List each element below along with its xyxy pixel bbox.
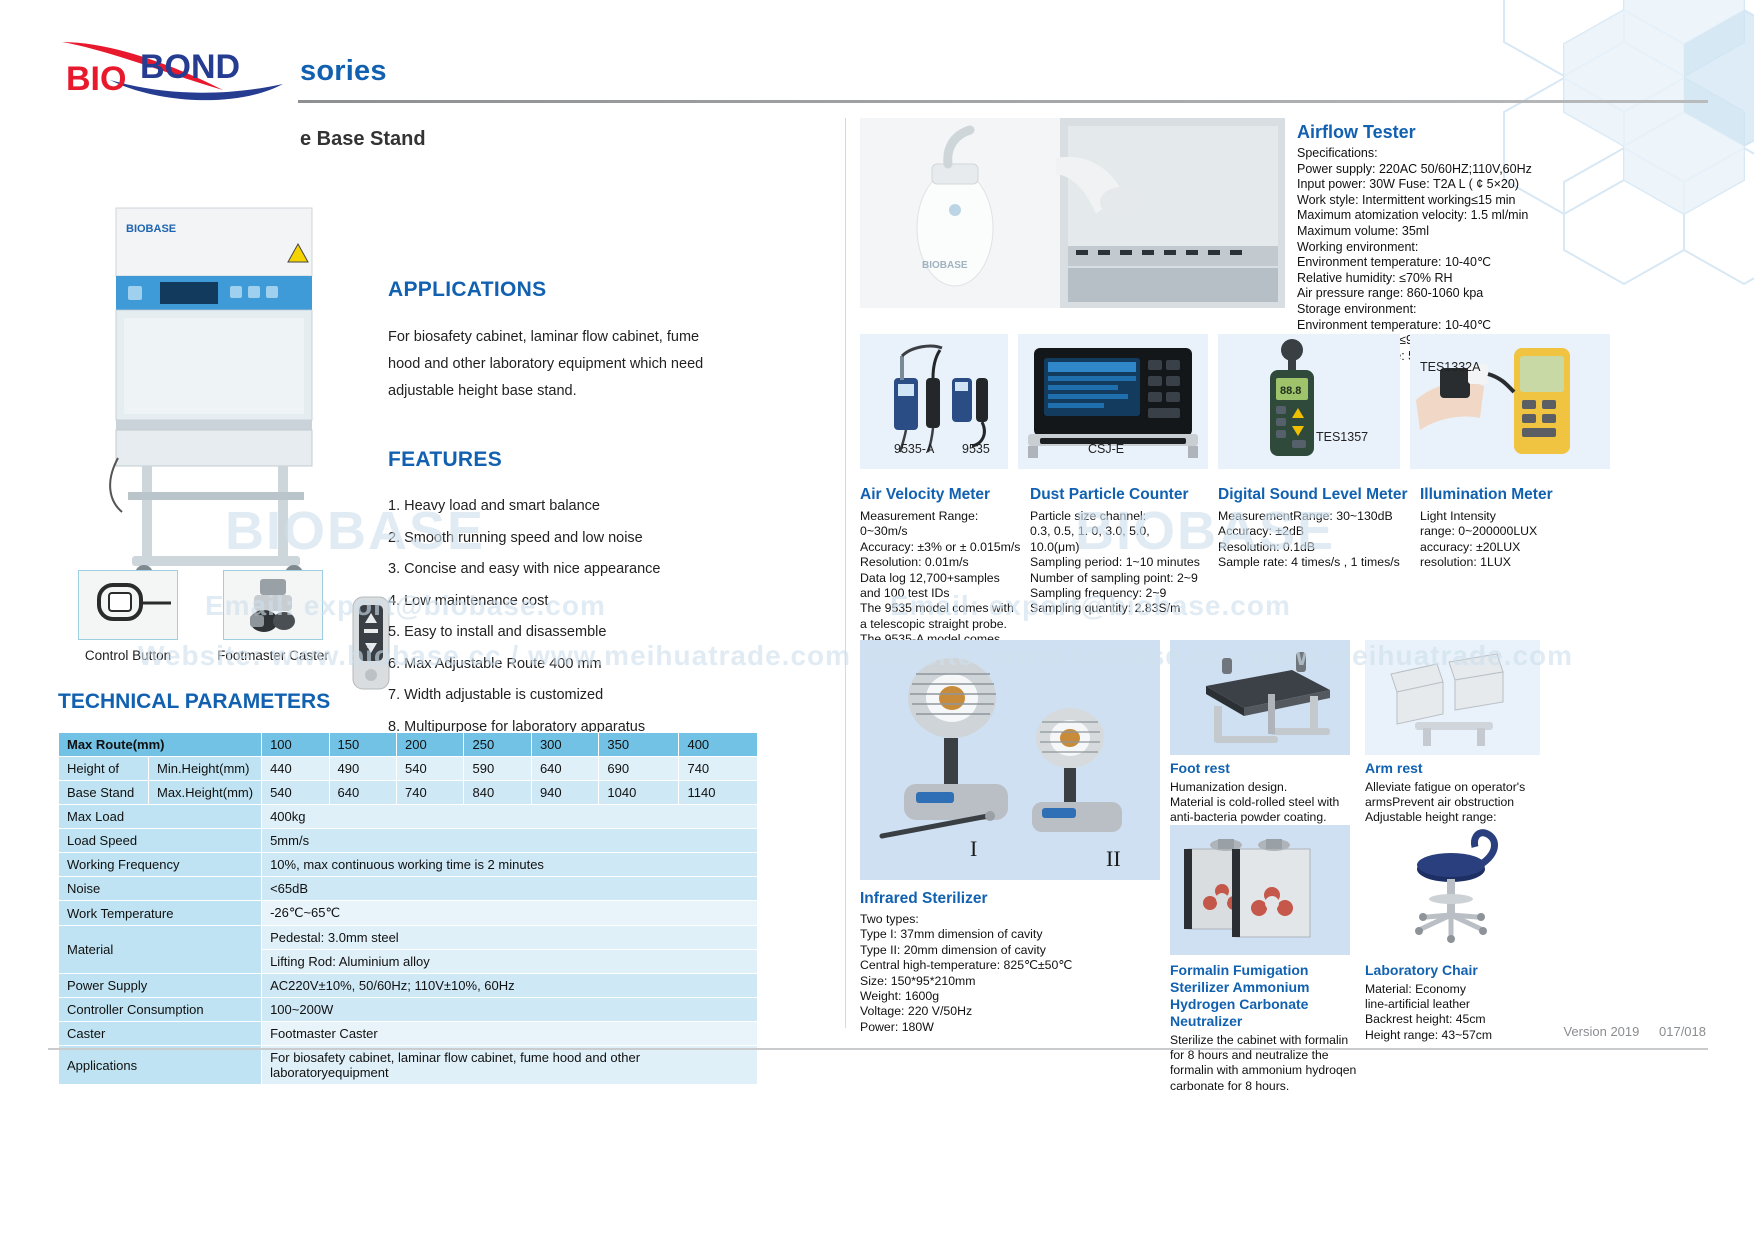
air-velocity-caption-b: 9535 (962, 442, 990, 456)
spec-line: Work style: Intermittent working≤15 min (1297, 193, 1627, 209)
spec-line: Measurement Range: 0~30m/s (860, 509, 1022, 540)
max-route-value: 150 (329, 733, 396, 757)
table-row: Load Speed 5mm/s (59, 829, 758, 853)
infrared-sterilizer-photo: I II (860, 640, 1160, 880)
spec-line: Working environment: (1297, 240, 1627, 256)
spec-line: Specifications: (1297, 146, 1627, 162)
spec-line: Number of sampling point: 2~9 (1030, 571, 1208, 586)
illumination-meter-caption: TES1332A (1420, 360, 1480, 374)
spec-line: MeasurementRange: 30~130dB (1218, 509, 1410, 524)
spec-line: Material: Economy (1365, 982, 1560, 997)
row-label: Working Frequency (59, 853, 262, 877)
spec-line: resolution: 1LUX (1420, 555, 1610, 570)
laboratory-chair-photo (1365, 825, 1540, 955)
spec-line: Data log 12,700+samples (860, 571, 1022, 586)
table-row: Height of Min.Height(mm) 440 490 540 590… (59, 757, 758, 781)
dust-counter-caption: CSJ-E (1088, 442, 1124, 456)
max-height-value: 840 (464, 781, 531, 805)
spec-line: for 8 hours and neutralize the (1170, 1048, 1370, 1063)
feature-item: 1. Heavy load and smart balance (388, 494, 748, 519)
row-label: Applications (59, 1046, 262, 1085)
table-row: Noise <65dB (59, 877, 758, 901)
spec-line: Alleviate fatigue on operator's (1365, 780, 1560, 795)
base-stand-label: Base Stand (59, 781, 149, 805)
biosafety-cabinet-photo: BIOBASE (98, 200, 348, 590)
spec-line: Type II: 20mm dimension of cavity (860, 943, 1130, 958)
svg-text:BIOBASE: BIOBASE (922, 260, 968, 271)
row-value: 400kg (262, 805, 758, 829)
min-height-value: 690 (599, 757, 679, 781)
max-route-value: 300 (531, 733, 598, 757)
laboratory-chair-text: Laboratory Chair Material: Economy line-… (1365, 962, 1560, 1043)
page-subtitle: e Base Stand (300, 128, 426, 151)
max-route-value: 200 (397, 733, 464, 757)
spec-line: 0.3, 0.5, 1. 0, 3.0, 5.0, (1030, 524, 1208, 539)
spec-line: carbonate for 8 hours. (1170, 1079, 1370, 1094)
spec-line: Sampling frequency: 2~9 (1030, 586, 1208, 601)
formalin-fumigation-text: Formalin Fumigation Sterilizer Ammonium … (1170, 962, 1370, 1094)
airflow-tester-photo: BIOBASE (860, 118, 1285, 308)
max-height-value: 540 (262, 781, 329, 805)
spec-line: Accuracy: ±3% or ± 0.015m/s (860, 540, 1022, 555)
spec-line: Environment temperature: 10-40℃ (1297, 318, 1627, 334)
spec-line: Type I: 37mm dimension of cavity (860, 927, 1130, 942)
spec-line: Voltage: 220 V/50Hz (860, 1004, 1130, 1019)
foot-rest-photo (1170, 640, 1350, 755)
spec-line: Backrest height: 45cm (1365, 1012, 1560, 1027)
spec-line: Environment temperature: 10-40℃ (1297, 255, 1627, 271)
spec-line: Relative humidity: ≤70% RH (1297, 271, 1627, 287)
spec-line: Two types: (860, 912, 1130, 927)
spec-line: Accuracy: ±2dB (1218, 524, 1410, 539)
instrument-photo-row: 88.8 (860, 334, 1740, 474)
spec-line: Air pressure range: 860-1060 kpa (1297, 286, 1627, 302)
page-title: sories (300, 55, 387, 88)
spec-line: a telescopic straight probe. (860, 617, 1022, 632)
spec-line: Adjustable height range: (1365, 810, 1560, 825)
card-body: Sterilize the cabinet with formalin for … (1170, 1033, 1370, 1094)
table-row: Caster Footmaster Caster (59, 1022, 758, 1046)
min-height-value: 490 (329, 757, 396, 781)
table-row: Material Pedestal: 3.0mm steel (59, 926, 758, 950)
applications-heading: APPLICATIONS (388, 278, 718, 302)
feature-item: 4. Low maintenance cost (388, 589, 748, 614)
min-height-label: Min.Height(mm) (149, 757, 262, 781)
spec-line: and 100 test IDs (860, 586, 1022, 601)
formalin-fumigation-sterilizer-photo (1170, 825, 1350, 955)
row-label: Noise (59, 877, 262, 901)
page-header: BIO BOND sories e Base Stand (0, 0, 1754, 120)
card-title: Dust Particle Counter (1030, 486, 1208, 504)
feature-item: 2. Smooth running speed and low noise (388, 526, 748, 551)
card-title: Laboratory Chair (1365, 962, 1560, 979)
svg-text:BIO: BIO (66, 60, 126, 98)
row-value: Lifting Rod: Aluminium alloy (262, 950, 758, 974)
spec-line: 10.0(μm) (1030, 540, 1208, 555)
card-title: Illumination Meter (1420, 486, 1610, 504)
feature-item: 3. Concise and easy with nice appearance (388, 557, 748, 582)
spec-line: Sterilize the cabinet with formalin (1170, 1033, 1370, 1048)
spec-line: Maximum atomization velocity: 1.5 ml/min (1297, 208, 1627, 224)
control-button-photo (78, 570, 178, 640)
row-label: Load Speed (59, 829, 262, 853)
spec-line: Power: 180W (860, 1020, 1130, 1035)
airflow-tester-title: Airflow Tester (1297, 122, 1627, 143)
spec-line: anti-bacteria powder coating. (1170, 810, 1360, 825)
footer-pages: 017/018 (1659, 1024, 1706, 1039)
footmaster-caster-caption: Footmaster Caster (198, 648, 348, 663)
spec-line: Resolution: 0.01m/s (860, 555, 1022, 570)
technical-parameters-heading: TECHNICAL PARAMETERS (58, 690, 758, 714)
card-title: Digital Sound Level Meter (1218, 486, 1410, 504)
row-label: Material (59, 926, 262, 974)
min-height-value: 640 (531, 757, 598, 781)
spec-line: Input power: 30W Fuse: T2A L ( ¢ 5×20) (1297, 177, 1627, 193)
table-row: Max Load 400kg (59, 805, 758, 829)
svg-text:BOND: BOND (140, 48, 240, 86)
max-route-value: 100 (262, 733, 329, 757)
card-title: Formalin Fumigation Sterilizer Ammonium … (1170, 962, 1370, 1030)
card-title: Air Velocity Meter (860, 486, 1022, 504)
spec-line: Resolution: 0.1dB (1218, 540, 1410, 555)
digital-sound-level-meter-photo: 88.8 (1218, 334, 1400, 469)
svg-text:II: II (1106, 846, 1121, 871)
row-value: Footmaster Caster (262, 1022, 758, 1046)
spec-line: Sample rate: 4 times/s , 1 times/s (1218, 555, 1410, 570)
row-value: AC220V±10%, 50/60Hz; 110V±10%, 60Hz (262, 974, 758, 998)
card-body: Material: Economy line-artificial leathe… (1365, 982, 1560, 1043)
row-label: Work Temperature (59, 901, 262, 926)
max-route-value: 350 (599, 733, 679, 757)
technical-parameters-section: TECHNICAL PARAMETERS Max Route(mm) 100 1… (58, 690, 758, 1085)
footer-version: Version 2019 (1563, 1024, 1639, 1039)
max-height-value: 740 (397, 781, 464, 805)
row-value: For biosafety cabinet, laminar flow cabi… (262, 1046, 758, 1085)
spec-line: Height range: 43~57cm (1365, 1028, 1560, 1043)
feature-item: 5. Easy to install and disassemble (388, 620, 748, 645)
min-height-value: 540 (397, 757, 464, 781)
spec-line: Humanization design. (1170, 780, 1360, 795)
spec-line: line-artificial leather (1365, 997, 1560, 1012)
svg-text:88.8: 88.8 (1280, 385, 1301, 397)
illumination-meter-photo (1410, 334, 1610, 469)
spec-line: Weight: 1600g (860, 989, 1130, 1004)
max-height-value: 940 (531, 781, 598, 805)
min-height-value: 740 (679, 757, 758, 781)
card-title: Foot rest (1170, 760, 1360, 777)
table-row: Working Frequency 10%, max continuous wo… (59, 853, 758, 877)
spec-line: Particle size channel: (1030, 509, 1208, 524)
row-label: Caster (59, 1022, 262, 1046)
illumination-meter-text: Illumination Meter Light Intensity range… (1420, 486, 1610, 571)
row-value: -26℃~65℃ (262, 901, 758, 926)
airflow-tester-specs: Specifications: Power supply: 220AC 50/6… (1297, 146, 1627, 364)
spec-line: formalin with ammonium hydroqen (1170, 1063, 1370, 1078)
feature-item: 6. Max Adjustable Route 400 mm (388, 652, 748, 677)
footer: Version 2019 017/018 (1547, 1024, 1706, 1039)
row-label: Controller Consumption (59, 998, 262, 1022)
column-divider (845, 118, 846, 1028)
row-label: Power Supply (59, 974, 262, 998)
table-row: Work Temperature -26℃~65℃ (59, 901, 758, 926)
sound-meter-caption: TES1357 (1316, 430, 1368, 444)
svg-text:I: I (970, 836, 977, 861)
spec-line: Maximum volume: 35ml (1297, 224, 1627, 240)
max-height-value: 640 (329, 781, 396, 805)
spec-line: Sampling period: 1~10 minutes (1030, 555, 1208, 570)
row-value: <65dB (262, 877, 758, 901)
spec-line: Size: 150*95*210mm (860, 974, 1130, 989)
spec-line: range: 0~200000LUX (1420, 524, 1610, 539)
height-of-label: Height of (59, 757, 149, 781)
row-value: 5mm/s (262, 829, 758, 853)
dust-particle-counter-text: Dust Particle Counter Particle size chan… (1030, 486, 1208, 617)
digital-sound-level-meter-text: Digital Sound Level Meter MeasurementRan… (1218, 486, 1410, 571)
row-value: Pedestal: 3.0mm steel (262, 926, 758, 950)
max-route-value: 250 (464, 733, 531, 757)
footmaster-caster-photo (223, 570, 323, 640)
table-row: Power Supply AC220V±10%, 50/60Hz; 110V±1… (59, 974, 758, 998)
brochure-page: BIO BOND sories e Base Stand BIOBASE (0, 0, 1754, 1241)
table-row: Controller Consumption 100~200W (59, 998, 758, 1022)
control-button-caption: Control Button (53, 648, 203, 663)
spec-line: Central high-temperature: 825℃±50℃ (860, 958, 1130, 973)
infrared-sterilizer-text: Infrared Sterilizer Two types: Type I: 3… (860, 890, 1130, 1035)
footer-divider (48, 1048, 1708, 1050)
title-divider (298, 100, 1708, 103)
table-row: Applications For biosafety cabinet, lami… (59, 1046, 758, 1085)
card-body: MeasurementRange: 30~130dB Accuracy: ±2d… (1218, 509, 1410, 571)
row-label: Max Load (59, 805, 262, 829)
table-row: Base Stand Max.Height(mm) 540 640 740 84… (59, 781, 758, 805)
card-title: Arm rest (1365, 760, 1560, 777)
card-title: Infrared Sterilizer (860, 890, 1130, 908)
arm-rest-photo (1365, 640, 1540, 755)
max-route-label: Max Route(mm) (59, 733, 262, 757)
technical-parameters-table: Max Route(mm) 100 150 200 250 300 350 40… (58, 732, 758, 1085)
spec-line: Sampling quantity: 2.83S/m (1030, 601, 1208, 616)
spec-line: Material is cold-rolled steel with (1170, 795, 1360, 810)
max-height-label: Max.Height(mm) (149, 781, 262, 805)
table-row: Max Route(mm) 100 150 200 250 300 350 40… (59, 733, 758, 757)
air-velocity-caption-a: 9535-A (894, 442, 934, 456)
max-height-value: 1140 (679, 781, 758, 805)
spec-line: Power supply: 220AC 50/60HZ;110V,60Hz (1297, 162, 1627, 178)
row-value: 10%, max continuous working time is 2 mi… (262, 853, 758, 877)
spec-line: accuracy: ±20LUX (1420, 540, 1610, 555)
card-body: Light Intensity range: 0~200000LUX accur… (1420, 509, 1610, 571)
features-heading: FEATURES (388, 448, 748, 472)
spec-line: Light Intensity (1420, 509, 1610, 524)
max-height-value: 1040 (599, 781, 679, 805)
min-height-value: 440 (262, 757, 329, 781)
svg-text:BIOBASE: BIOBASE (126, 223, 176, 235)
airflow-tester-text: Airflow Tester Specifications: Power sup… (1297, 122, 1627, 364)
spec-line: armsPrevent air obstruction (1365, 795, 1560, 810)
card-body: Particle size channel: 0.3, 0.5, 1. 0, 3… (1030, 509, 1208, 617)
min-height-value: 590 (464, 757, 531, 781)
spec-line: The 9535 model comes with (860, 601, 1022, 616)
max-route-value: 400 (679, 733, 758, 757)
biobond-logo: BIO BOND (48, 28, 298, 108)
applications-body: For biosafety cabinet, laminar flow cabi… (388, 324, 718, 405)
spec-line: Storage environment: (1297, 302, 1627, 318)
row-value: 100~200W (262, 998, 758, 1022)
applications-section: APPLICATIONS For biosafety cabinet, lami… (388, 278, 718, 405)
card-body: Two types: Type I: 37mm dimension of cav… (860, 912, 1130, 1035)
